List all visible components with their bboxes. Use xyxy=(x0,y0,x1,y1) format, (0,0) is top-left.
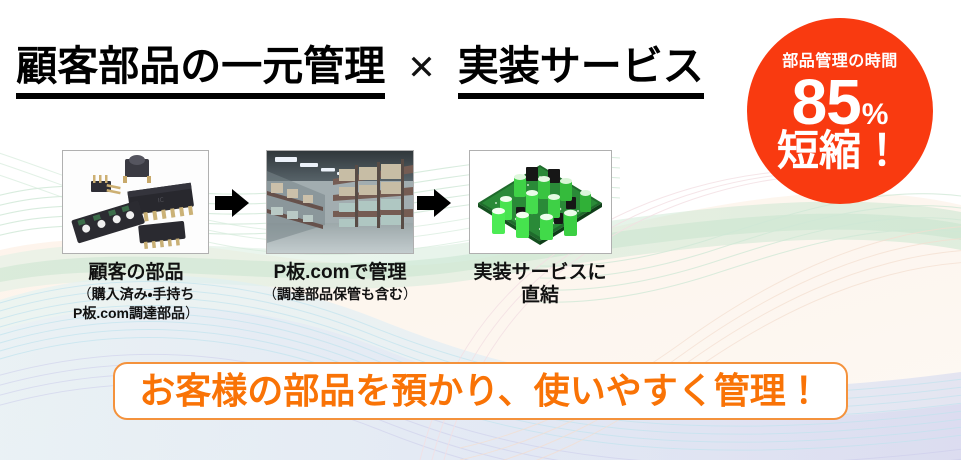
cta-banner: お客様の部品を預かり、使いやすく管理！ xyxy=(113,362,848,420)
multiply-icon: ✕ xyxy=(407,51,436,85)
headline: 顧客部品の一元管理 ✕ 実装サービス xyxy=(0,30,720,115)
paren-open: （ xyxy=(78,286,92,302)
warehouse-thumbnail xyxy=(266,150,414,254)
step-1-sub1: 購入済み・手持ち xyxy=(92,286,195,302)
step-3-caption-line1: 実装サービスに xyxy=(460,262,620,285)
headline-right: 実装サービス xyxy=(458,46,704,99)
headline-left-underline xyxy=(16,93,385,99)
step-1-subcaption-line2: P板.com調達部品） xyxy=(62,305,210,323)
step-2-sub1: 調達部品保管も含む xyxy=(277,286,403,302)
arrow-right-icon-1 xyxy=(215,188,249,218)
step-3-caption-line2: 直結 xyxy=(460,285,620,308)
paren-close: ） xyxy=(403,286,417,302)
step-1-caption: 顧客の部品 xyxy=(62,262,210,284)
paren-open: （ xyxy=(263,286,277,302)
cta-text: お客様の部品を預かり、使いやすく管理！ xyxy=(139,373,822,409)
headline-left: 顧客部品の一元管理 xyxy=(16,46,385,99)
promo-banner: 顧客部品の一元管理 ✕ 実装サービス 部品管理の時間 85 % 短縮！ xyxy=(0,0,961,460)
flow-step-2: P板.comで管理 （調達部品保管も含む） xyxy=(255,150,425,303)
svg-text:IC: IC xyxy=(157,197,164,205)
discount-badge: 部品管理の時間 85 % 短縮！ xyxy=(747,18,933,204)
step-1-sub2: P板.com調達部品 xyxy=(73,305,185,321)
paren-close: ） xyxy=(185,305,199,321)
headline-right-text: 実装サービス xyxy=(458,46,704,87)
badge-percent-sign: % xyxy=(862,100,889,130)
flow-step-1: IC xyxy=(62,150,210,323)
flow-step-3: 実装サービスに 直結 xyxy=(460,150,620,308)
headline-left-text: 顧客部品の一元管理 xyxy=(16,46,385,87)
step-3-caption: 実装サービスに 直結 xyxy=(460,262,620,308)
badge-bottom-label: 短縮！ xyxy=(777,130,903,172)
badge-figure: 85 % xyxy=(792,72,889,133)
components-thumbnail: IC xyxy=(62,150,209,254)
headline-right-underline xyxy=(458,93,704,99)
process-flow: IC xyxy=(40,150,640,330)
step-1-subcaption-line1: （購入済み・手持ち xyxy=(62,286,210,304)
step-2-caption: P板.comで管理 xyxy=(255,262,425,284)
badge-number: 85 xyxy=(792,72,861,133)
step-2-subcaption: （調達部品保管も含む） xyxy=(255,286,425,304)
arrow-right-icon-2 xyxy=(417,188,451,218)
pcb-thumbnail xyxy=(469,150,612,254)
